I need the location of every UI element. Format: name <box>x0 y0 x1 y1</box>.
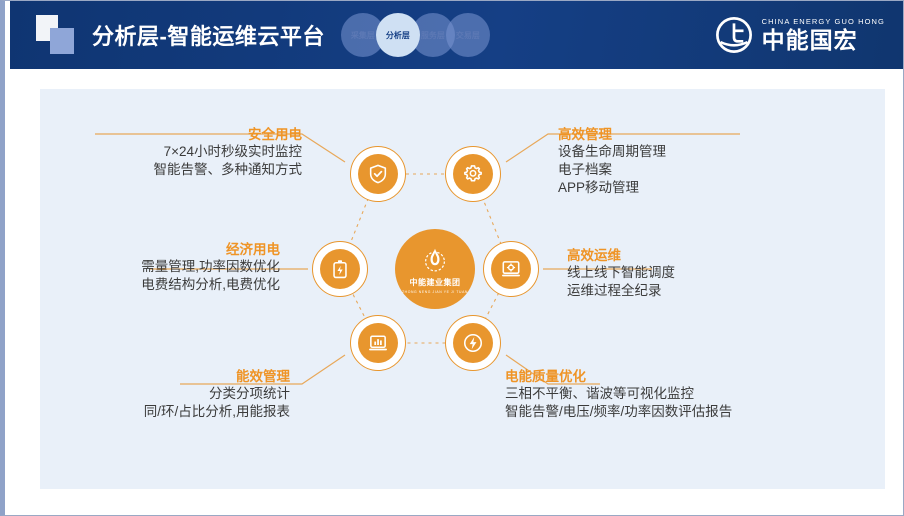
block-safe-power: 安全用电 7×24小时秒级实时监控 智能告警、多种通知方式 <box>40 127 302 179</box>
monitor-gear-icon <box>500 258 522 280</box>
shield-check-icon <box>367 163 389 185</box>
block-energy-efficiency: 能效管理 分类分项统计 同/环/占比分析,用能报表 <box>40 369 290 421</box>
node-icon-wrap <box>453 154 493 194</box>
laptop-chart-icon <box>367 332 389 354</box>
node-economic-power[interactable] <box>312 241 368 297</box>
block-efficient-management: 高效管理 设备生命周期管理 电子档案 APP移动管理 <box>558 127 888 197</box>
block-power-quality: 电能质量优化 三相不平衡、谐波等可视化监控 智能告警/电压/频率/功率因数评估报… <box>505 369 885 421</box>
block-line: 智能告警/电压/频率/功率因数评估报告 <box>505 403 885 421</box>
block-line: 电子档案 <box>558 161 888 179</box>
block-line: 需量管理,功率因数优化 <box>40 258 280 276</box>
emblem-name-cn: 中能建业集团 <box>410 277 461 288</box>
block-line: 智能告警、多种通知方式 <box>40 161 302 179</box>
block-title: 电能质量优化 <box>505 369 885 385</box>
node-icon-wrap <box>320 249 360 289</box>
corporate-name-cn: 中能国宏 <box>762 29 885 52</box>
circle-g-logo-icon <box>715 16 753 54</box>
node-power-quality[interactable] <box>445 315 501 371</box>
block-line: 运维过程全纪录 <box>567 282 887 300</box>
flame-gear-icon <box>420 245 450 275</box>
bolt-circle-icon <box>462 332 484 354</box>
block-title: 经济用电 <box>40 242 280 258</box>
block-title: 高效管理 <box>558 127 888 143</box>
block-line: 设备生命周期管理 <box>558 143 888 161</box>
corporate-name-block: CHINA ENERGY GUO HONG 中能国宏 <box>762 18 885 52</box>
block-title: 安全用电 <box>40 127 302 143</box>
block-title: 高效运维 <box>567 248 887 264</box>
pill-trade-layer[interactable]: 交易层 <box>446 13 490 57</box>
node-icon-wrap <box>358 323 398 363</box>
node-efficient-management[interactable] <box>445 146 501 202</box>
battery-bolt-icon <box>329 258 351 280</box>
block-line: 分类分项统计 <box>40 385 290 403</box>
node-energy-efficiency[interactable] <box>350 315 406 371</box>
block-efficient-ops: 高效运维 线上线下智能调度 运维过程全纪录 <box>567 248 887 300</box>
layer-pill-group: 采集层 分析层 服务层 交易层 <box>341 13 481 57</box>
emblem-name-en: ZHONG NENG JIAN YE JI TUAN <box>402 290 468 294</box>
block-line: 同/环/占比分析,用能报表 <box>40 403 290 421</box>
block-line: 电费结构分析,电费优化 <box>40 276 280 294</box>
block-economic-power: 经济用电 需量管理,功率因数优化 电费结构分析,电费优化 <box>40 242 280 294</box>
diagram-canvas: 中能建业集团 ZHONG NENG JIAN YE JI TUAN <box>40 89 885 489</box>
block-title: 能效管理 <box>40 369 290 385</box>
block-line: 三相不平衡、谐波等可视化监控 <box>505 385 885 403</box>
square-blue <box>50 28 74 54</box>
block-line: 线上线下智能调度 <box>567 264 887 282</box>
node-efficient-ops[interactable] <box>483 241 539 297</box>
block-line: 7×24小时秒级实时监控 <box>40 143 302 161</box>
slide-root: 分析层-智能运维云平台 采集层 分析层 服务层 交易层 CHINA ENERGY… <box>0 0 904 516</box>
center-emblem: 中能建业集团 ZHONG NENG JIAN YE JI TUAN <box>395 229 475 309</box>
pill-analysis-layer[interactable]: 分析层 <box>376 13 420 57</box>
gear-icon <box>462 163 484 185</box>
node-icon-wrap <box>491 249 531 289</box>
page-title: 分析层-智能运维云平台 <box>92 19 325 51</box>
corporate-name-en: CHINA ENERGY GUO HONG <box>762 18 885 26</box>
node-icon-wrap <box>358 154 398 194</box>
corporate-logo: CHINA ENERGY GUO HONG 中能国宏 <box>715 16 885 54</box>
slide-header: 分析层-智能运维云平台 采集层 分析层 服务层 交易层 CHINA ENERGY… <box>10 1 903 69</box>
block-line: APP移动管理 <box>558 179 888 197</box>
two-squares-icon <box>36 15 80 55</box>
node-safe-power[interactable] <box>350 146 406 202</box>
node-icon-wrap <box>453 323 493 363</box>
